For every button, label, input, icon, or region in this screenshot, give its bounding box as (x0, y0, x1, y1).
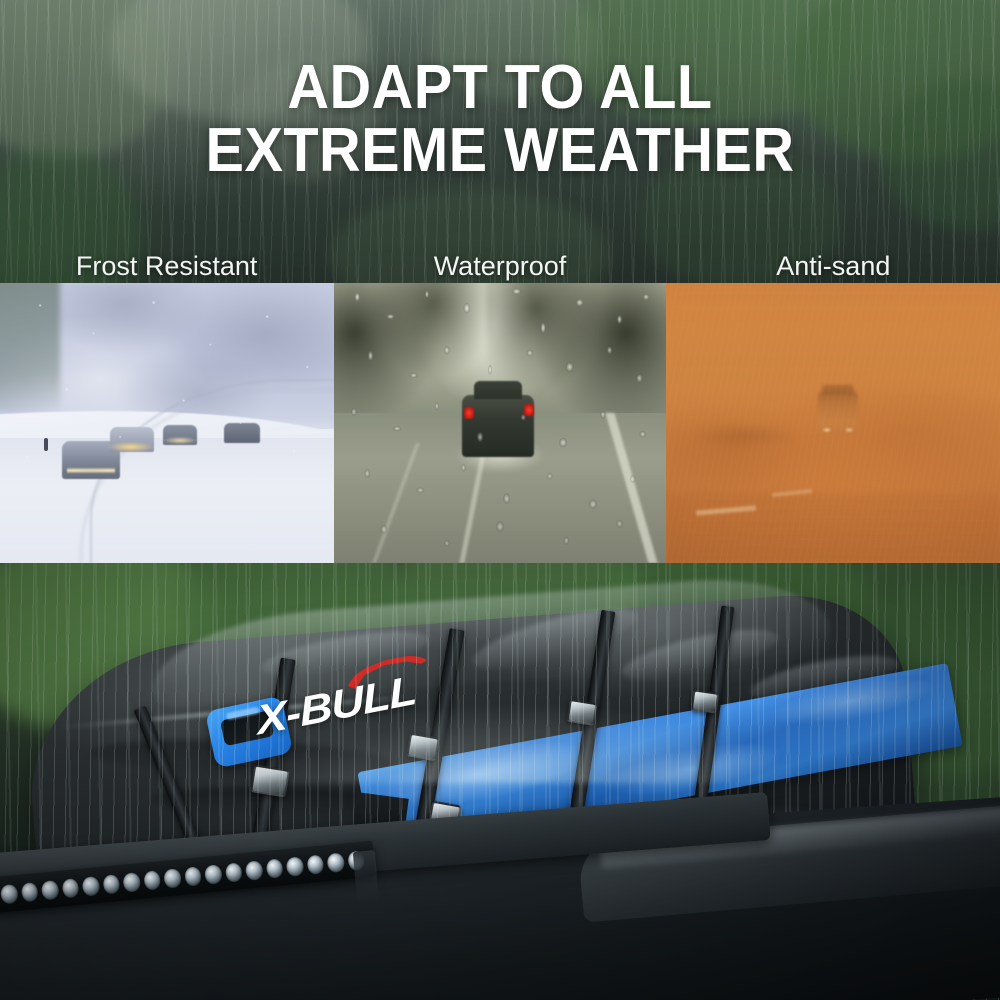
snow-haze-overlay (0, 283, 334, 563)
led-lamp (82, 876, 100, 896)
feature-image-row (0, 283, 1000, 563)
led-lamp (204, 864, 222, 884)
sand-grain-overlay (666, 283, 1000, 563)
rain-droplets-on-glass (334, 283, 666, 563)
feature-image-waterproof (334, 283, 666, 563)
page-headline: ADAPT TO ALL EXTREME WEATHER (35, 56, 965, 182)
feature-image-frost-resistant (0, 283, 334, 563)
led-lamp (163, 868, 181, 888)
led-lamp (245, 860, 263, 880)
led-lamp (41, 880, 59, 900)
main-product-photo: X-BULL (0, 563, 1000, 1000)
led-lamp (265, 858, 283, 878)
led-lamp (20, 881, 38, 901)
headline-line-1: ADAPT TO ALL (35, 56, 965, 119)
led-lamp (143, 870, 161, 890)
feature-label-frost-resistant: Frost Resistant (0, 246, 333, 286)
led-lamp (306, 854, 324, 874)
led-lamp (61, 878, 79, 898)
led-lamp (102, 874, 120, 894)
led-lamp (326, 852, 344, 872)
product-banner-page: ADAPT TO ALL EXTREME WEATHER Frost Resis… (0, 0, 1000, 1000)
led-lamp (0, 883, 18, 903)
feature-label-waterproof: Waterproof (333, 246, 666, 286)
feature-label-row: Frost Resistant Waterproof Anti-sand (0, 246, 1000, 286)
led-lamp (224, 862, 242, 882)
strap-buckle (250, 764, 290, 797)
headline-line-2: EXTREME WEATHER (35, 119, 965, 182)
light-bar-mount-bracket (353, 850, 379, 904)
strap-buckle (566, 699, 597, 726)
feature-label-anti-sand: Anti-sand (667, 246, 1000, 286)
led-lamp (286, 856, 304, 876)
led-lamp (122, 872, 140, 892)
strap-buckle (406, 733, 440, 762)
feature-image-anti-sand (666, 283, 1000, 563)
led-lamp (184, 866, 202, 886)
strap-buckle (691, 689, 720, 713)
